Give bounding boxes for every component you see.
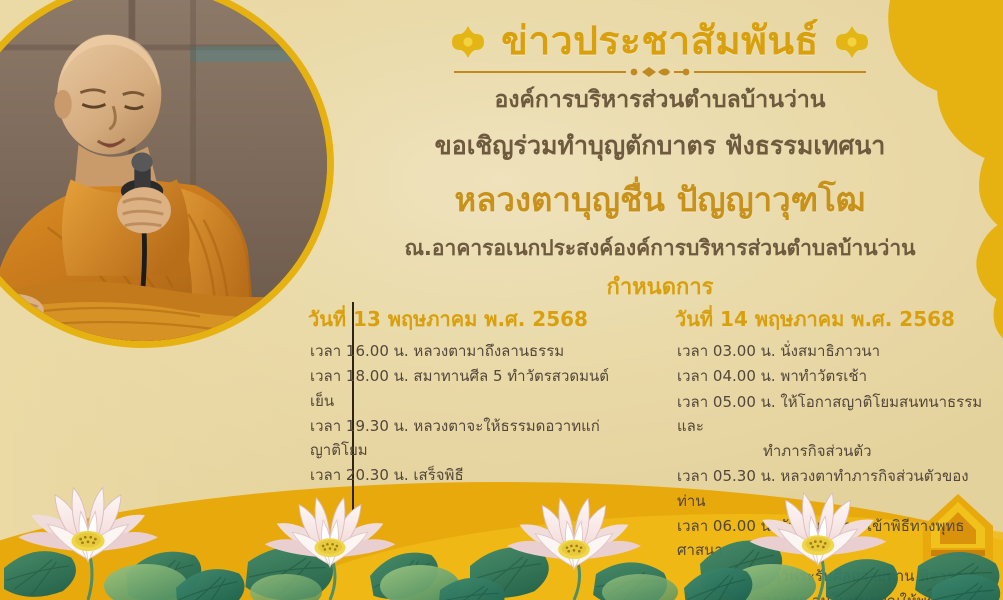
list-item: เวลา 04.00 น. พาทำวัตรเช้า [677,364,990,388]
ornate-divider-icon [450,65,870,79]
header-block: ข่าวประชาสัมพันธ์ องค์การบริหารส่วนตำบลบ… [330,22,990,303]
list-item: เวลา 06.00 น. รับบิณฑบาต-เข้าพิธีทางพุทธ… [677,514,990,563]
list-item: เวลา 03.00 น. นั่งสมาธิภาวนา [677,339,990,363]
schedule-list-day2: เวลา 03.00 น. นั่งสมาธิภาวนา เวลา 04.00 … [667,339,990,600]
list-item: เวลา 19.30 น. หลวงตาจะให้ธรรมดอวาทแก่ญาต… [310,414,627,463]
title-row: ข่าวประชาสัมพันธ์ [330,22,990,63]
date-heading-day2: วันที่ 14 พฤษภาคม พ.ศ. 2568 [675,306,990,332]
diamond-floral-ornament-icon [451,25,485,59]
diamond-floral-ornament-icon [835,25,869,59]
schedule-column-day2: วันที่ 14 พฤษภาคม พ.ศ. 2568 เวลา 03.00 น… [645,306,990,600]
list-item-continuation: ทำภารกิจส่วนตัว [763,439,990,463]
venue-text: ณ.อาคารอเนกประสงค์องค์การบริหารส่วนตำบลบ… [330,233,990,265]
list-item-continuation: ไหว้พระรับศีลถวายทาน พิจารณา [763,564,990,588]
invitation-text: ขอเชิญร่วมทำบุญตักบาตร ฟังธรรมเทศนา [330,127,990,165]
date-heading-day1: วันที่ 13 พฤษภาคม พ.ศ. 2568 [308,306,627,332]
poster-canvas: ข่าวประชาสัมพันธ์ องค์การบริหารส่วนตำบลบ… [0,0,1003,600]
schedule-section: วันที่ 13 พฤษภาคม พ.ศ. 2568 เวลา 16.00 น… [300,306,990,600]
list-item: เวลา 16.00 น. หลวงตามาถึงลานธรรม [310,339,627,363]
monk-portrait-illustration [0,0,327,341]
page-title: ข่าวประชาสัมพันธ์ [501,22,819,63]
agenda-label: กำหนดการ [330,273,990,304]
monk-photo-frame [0,0,334,348]
list-item: เวลา 20.30 น. เสร็จพิธี [310,463,627,487]
monk-photo [0,0,327,341]
organization-name: องค์การบริหารส่วนตำบลบ้านว่าน [330,83,990,118]
list-item: เวลา 05.30 น. หลวงตาทำภารกิจส่วนตัวของท่… [677,464,990,513]
schedule-list-day1: เวลา 16.00 น. หลวงตามาถึงลานธรรม เวลา 18… [300,339,627,488]
list-item-continuation: อาหาร อนุโมทนาบุญให้พร [763,589,990,600]
schedule-column-day1: วันที่ 13 พฤษภาคม พ.ศ. 2568 เวลา 16.00 น… [300,306,645,489]
list-item: เวลา 05.00 น. ให้โอกาสญาติโยมสนทนาธรรมแล… [677,390,990,439]
list-item: เวลา 18.00 น. สมาทานศีล 5 ทำวัตรสวดมนต์เ… [310,364,627,413]
monk-name: หลวงตาบุญชื่น ปัญญาวุฑโฒ [330,177,990,223]
